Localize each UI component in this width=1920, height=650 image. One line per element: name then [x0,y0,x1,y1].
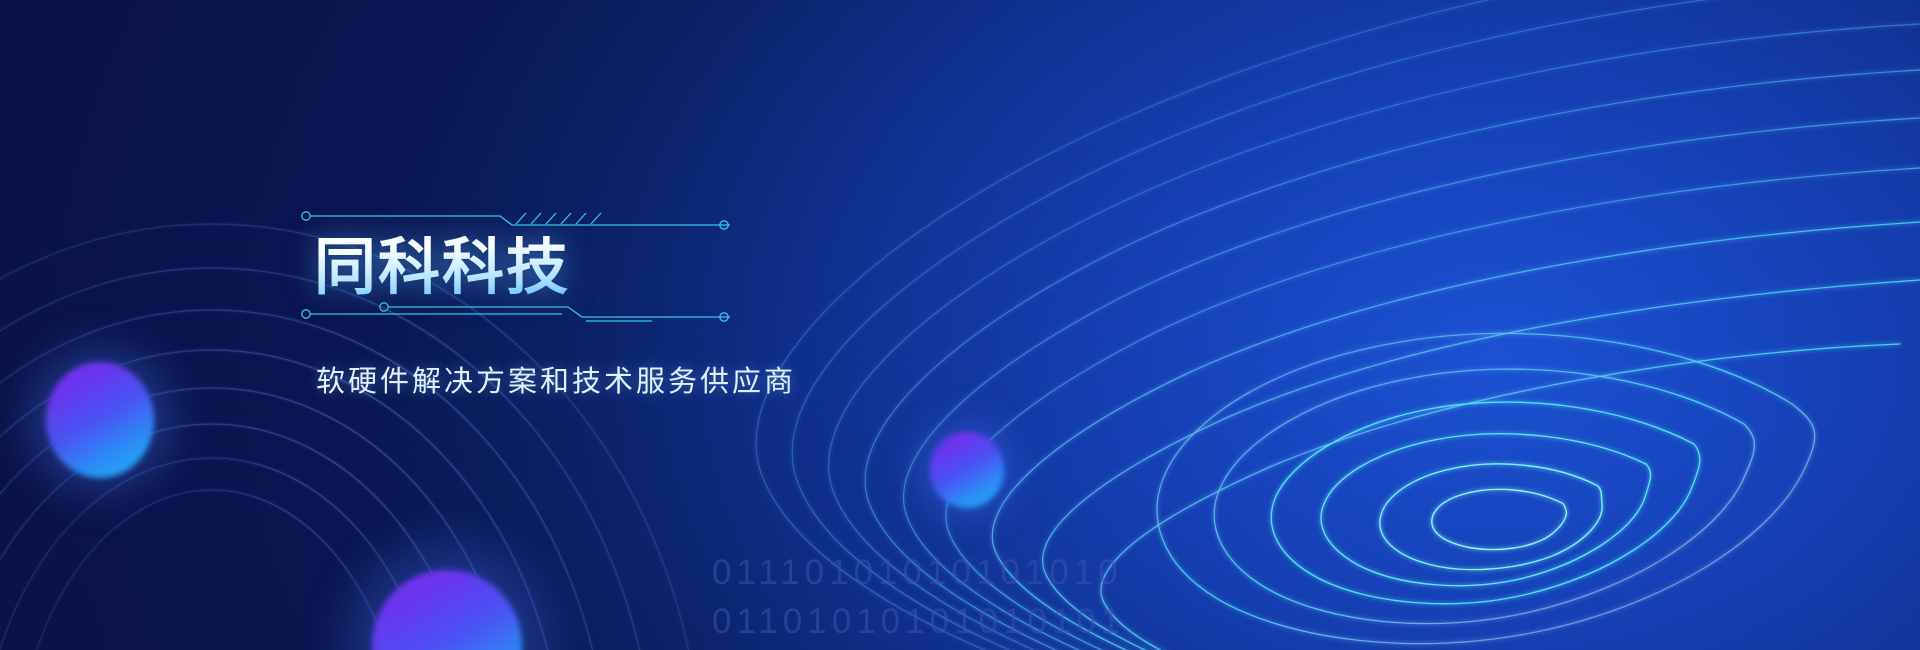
brand-text-block: 同科科技 软硬件解决方案和技术服务供应商 [300,210,760,400]
brand-subtitle: 软硬件解决方案和技术服务供应商 [316,358,760,400]
brand-title: 同科科技 [314,236,760,298]
glowing-sphere-bottom [372,570,522,650]
binary-text-line-2: 01101010101010101 [712,602,1125,642]
top-decorative-rule [300,210,730,232]
sphere-core [930,432,1004,508]
sphere-halo [321,519,573,650]
bottom-decorative-rule [300,300,730,324]
sphere-core [372,570,522,650]
sphere-halo [9,323,190,518]
glowing-sphere-large [46,362,154,478]
sphere-halo [905,406,1029,534]
hero-banner: 01110101010101010 01101010101010101 同科科技 [0,0,1920,650]
sphere-core [46,362,154,478]
glowing-sphere-small [930,432,1004,508]
binary-text-line-1: 01110101010101010 [712,553,1123,593]
hatch-marks [516,213,601,224]
